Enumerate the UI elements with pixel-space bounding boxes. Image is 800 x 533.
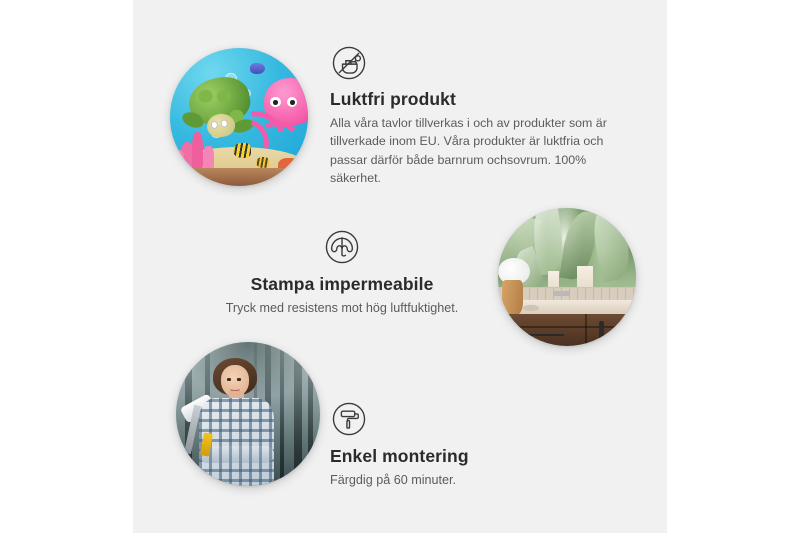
vanity-cabinet bbox=[502, 314, 636, 346]
promo-canvas: Luktfri produkt Alla våra tavlor tillver… bbox=[0, 0, 800, 533]
feature-odourless: Luktfri produkt Alla våra tavlor tillver… bbox=[330, 44, 626, 188]
fish bbox=[233, 143, 251, 158]
feature-easy-install: Enkel montering Färgdig på 60 minuter. bbox=[330, 400, 590, 490]
eye bbox=[227, 378, 231, 380]
no-perfume-icon bbox=[330, 44, 368, 82]
faucet bbox=[553, 291, 570, 297]
ocean-scene bbox=[170, 48, 308, 186]
eye bbox=[237, 378, 241, 380]
feature-body: Färgdig på 60 minuter. bbox=[330, 471, 590, 490]
feature-title: Stampa impermeabile bbox=[192, 274, 492, 294]
octopus-eye bbox=[270, 97, 280, 107]
drawer-seam bbox=[502, 326, 636, 328]
paint-roller-icon bbox=[330, 400, 368, 438]
coral bbox=[203, 146, 214, 169]
feature-title: Luktfri produkt bbox=[330, 89, 626, 109]
folded-arms bbox=[199, 446, 274, 463]
feature-waterproof: Stampa impermeabile Tryck med resistens … bbox=[192, 228, 492, 318]
vase bbox=[502, 280, 523, 316]
umbrella-icon bbox=[323, 228, 361, 266]
coral bbox=[174, 150, 184, 169]
feature-body: Tryck med resistens mot hög luftfuktighe… bbox=[192, 299, 492, 318]
bathroom-scene bbox=[498, 208, 636, 346]
fish bbox=[256, 157, 270, 168]
drawer-handle bbox=[526, 334, 563, 336]
woman-scene bbox=[176, 342, 320, 486]
ocean-mural-image bbox=[170, 48, 308, 186]
cabinet-divider bbox=[585, 314, 587, 346]
woman-roller-image bbox=[176, 342, 320, 486]
feature-title: Enkel montering bbox=[330, 446, 590, 466]
ocean-floor bbox=[170, 168, 308, 186]
coral bbox=[192, 132, 203, 169]
feature-body: Alla våra tavlor tillverkas i och av pro… bbox=[330, 114, 626, 187]
bathroom-mural-image bbox=[498, 208, 636, 346]
door-handle bbox=[599, 321, 604, 341]
octopus-eye bbox=[287, 97, 297, 107]
